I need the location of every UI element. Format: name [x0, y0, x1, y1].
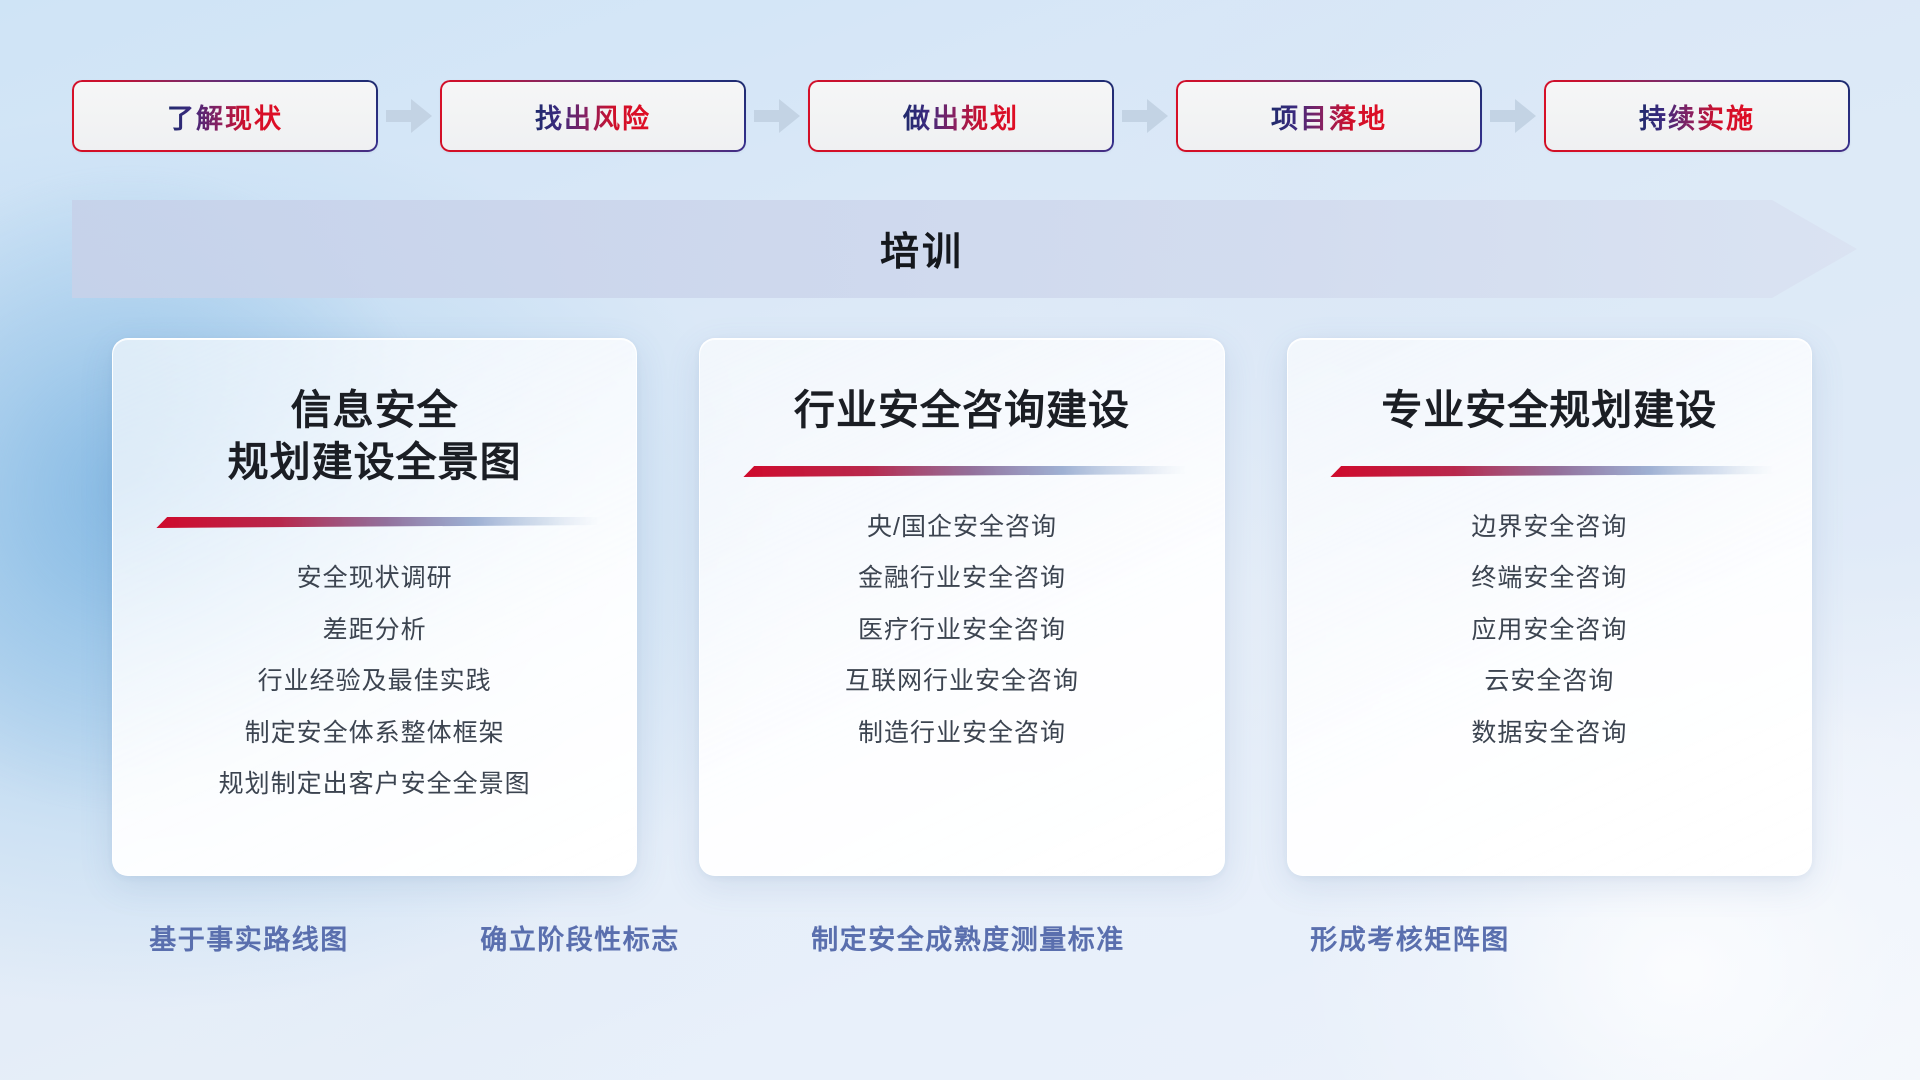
training-banner: 培训 — [72, 200, 1857, 298]
process-step-2[interactable]: 找出风险 — [440, 80, 746, 152]
card-3-list-item-1: 边界安全咨询 — [1471, 507, 1627, 548]
process-step-4[interactable]: 项目落地 — [1176, 80, 1482, 152]
card-3-left-accent — [1287, 467, 1288, 865]
bottom-label-row: 基于事实路线图 确立阶段性标志 制定安全成熟度测量标准 形成考核矩阵图 — [0, 918, 1920, 964]
card-2-title: 行业安全咨询建设 — [737, 385, 1187, 437]
card-group: 信息安全 规划建设全景图 — [112, 338, 1812, 874]
card-2[interactable]: 行业安全咨询建设 — [699, 338, 1224, 876]
process-step-5-label: 持续实施 — [1639, 97, 1755, 136]
slide-canvas: 了解现状 找出风险 做出规划 项目落地 — [0, 0, 1920, 1080]
step-arrow-right-icon-3 — [1114, 93, 1176, 139]
card-2-right-accent — [1224, 467, 1225, 865]
card-3-list-item-4: 云安全咨询 — [1484, 661, 1614, 702]
process-step-1[interactable]: 了解现状 — [72, 80, 378, 152]
training-banner-label: 培训 — [72, 200, 1772, 298]
card-2-divider — [737, 463, 1187, 479]
card-1[interactable]: 信息安全 规划建设全景图 — [112, 338, 637, 876]
step-arrow-right-icon-4 — [1482, 93, 1544, 139]
card-1-title: 信息安全 规划建设全景图 — [150, 385, 600, 488]
bottom-label-3: 制定安全成熟度测量标准 — [811, 918, 1125, 957]
step-arrow-right-icon-2 — [746, 93, 808, 139]
card-2-list-item-5: 制造行业安全咨询 — [858, 713, 1066, 754]
card-3-title: 专业安全规划建设 — [1324, 385, 1774, 437]
bottom-label-1: 基于事实路线图 — [149, 918, 349, 957]
card-3-list-item-2: 终端安全咨询 — [1471, 558, 1627, 599]
card-1-list-item-1: 安全现状调研 — [297, 558, 453, 599]
bottom-label-2: 确立阶段性标志 — [480, 918, 680, 957]
card-2-list-item-1: 央/国企安全咨询 — [867, 507, 1057, 548]
card-3[interactable]: 专业安全规划建设 — [1287, 338, 1812, 876]
process-step-3[interactable]: 做出规划 — [808, 80, 1114, 152]
card-1-list-item-2: 差距分析 — [323, 610, 427, 651]
process-step-1-label: 了解现状 — [167, 97, 283, 136]
step-arrow-right-icon-1 — [378, 93, 440, 139]
card-1-left-accent — [112, 467, 113, 865]
process-step-row: 了解现状 找出风险 做出规划 项目落地 — [72, 78, 1852, 154]
card-1-divider — [150, 514, 600, 530]
card-1-list-item-4: 制定安全体系整体框架 — [245, 713, 505, 754]
card-3-divider — [1324, 463, 1774, 479]
process-step-5[interactable]: 持续实施 — [1544, 80, 1850, 152]
card-1-list-item-5: 规划制定出客户安全全景图 — [219, 764, 531, 805]
card-1-list-item-3: 行业经验及最佳实践 — [258, 661, 492, 702]
card-2-list: 央/国企安全咨询 金融行业安全咨询 医疗行业安全咨询 互联网行业安全咨询 制造行… — [721, 507, 1202, 754]
card-2-list-item-2: 金融行业安全咨询 — [858, 558, 1066, 599]
process-step-2-label: 找出风险 — [535, 97, 651, 136]
card-1-list: 安全现状调研 差距分析 行业经验及最佳实践 制定安全体系整体框架 规划制定出客户… — [134, 558, 615, 805]
card-3-list-item-3: 应用安全咨询 — [1471, 610, 1627, 651]
card-3-list-item-5: 数据安全咨询 — [1471, 713, 1627, 754]
bottom-label-4: 形成考核矩阵图 — [1310, 918, 1510, 957]
card-3-right-accent — [1811, 467, 1812, 865]
process-step-4-label: 项目落地 — [1271, 97, 1387, 136]
card-2-left-accent — [699, 467, 700, 865]
card-2-list-item-4: 互联网行业安全咨询 — [845, 661, 1079, 702]
card-3-list: 边界安全咨询 终端安全咨询 应用安全咨询 云安全咨询 数据安全咨询 — [1309, 507, 1790, 754]
process-step-3-label: 做出规划 — [903, 97, 1019, 136]
card-2-list-item-3: 医疗行业安全咨询 — [858, 610, 1066, 651]
card-1-right-accent — [636, 467, 637, 865]
